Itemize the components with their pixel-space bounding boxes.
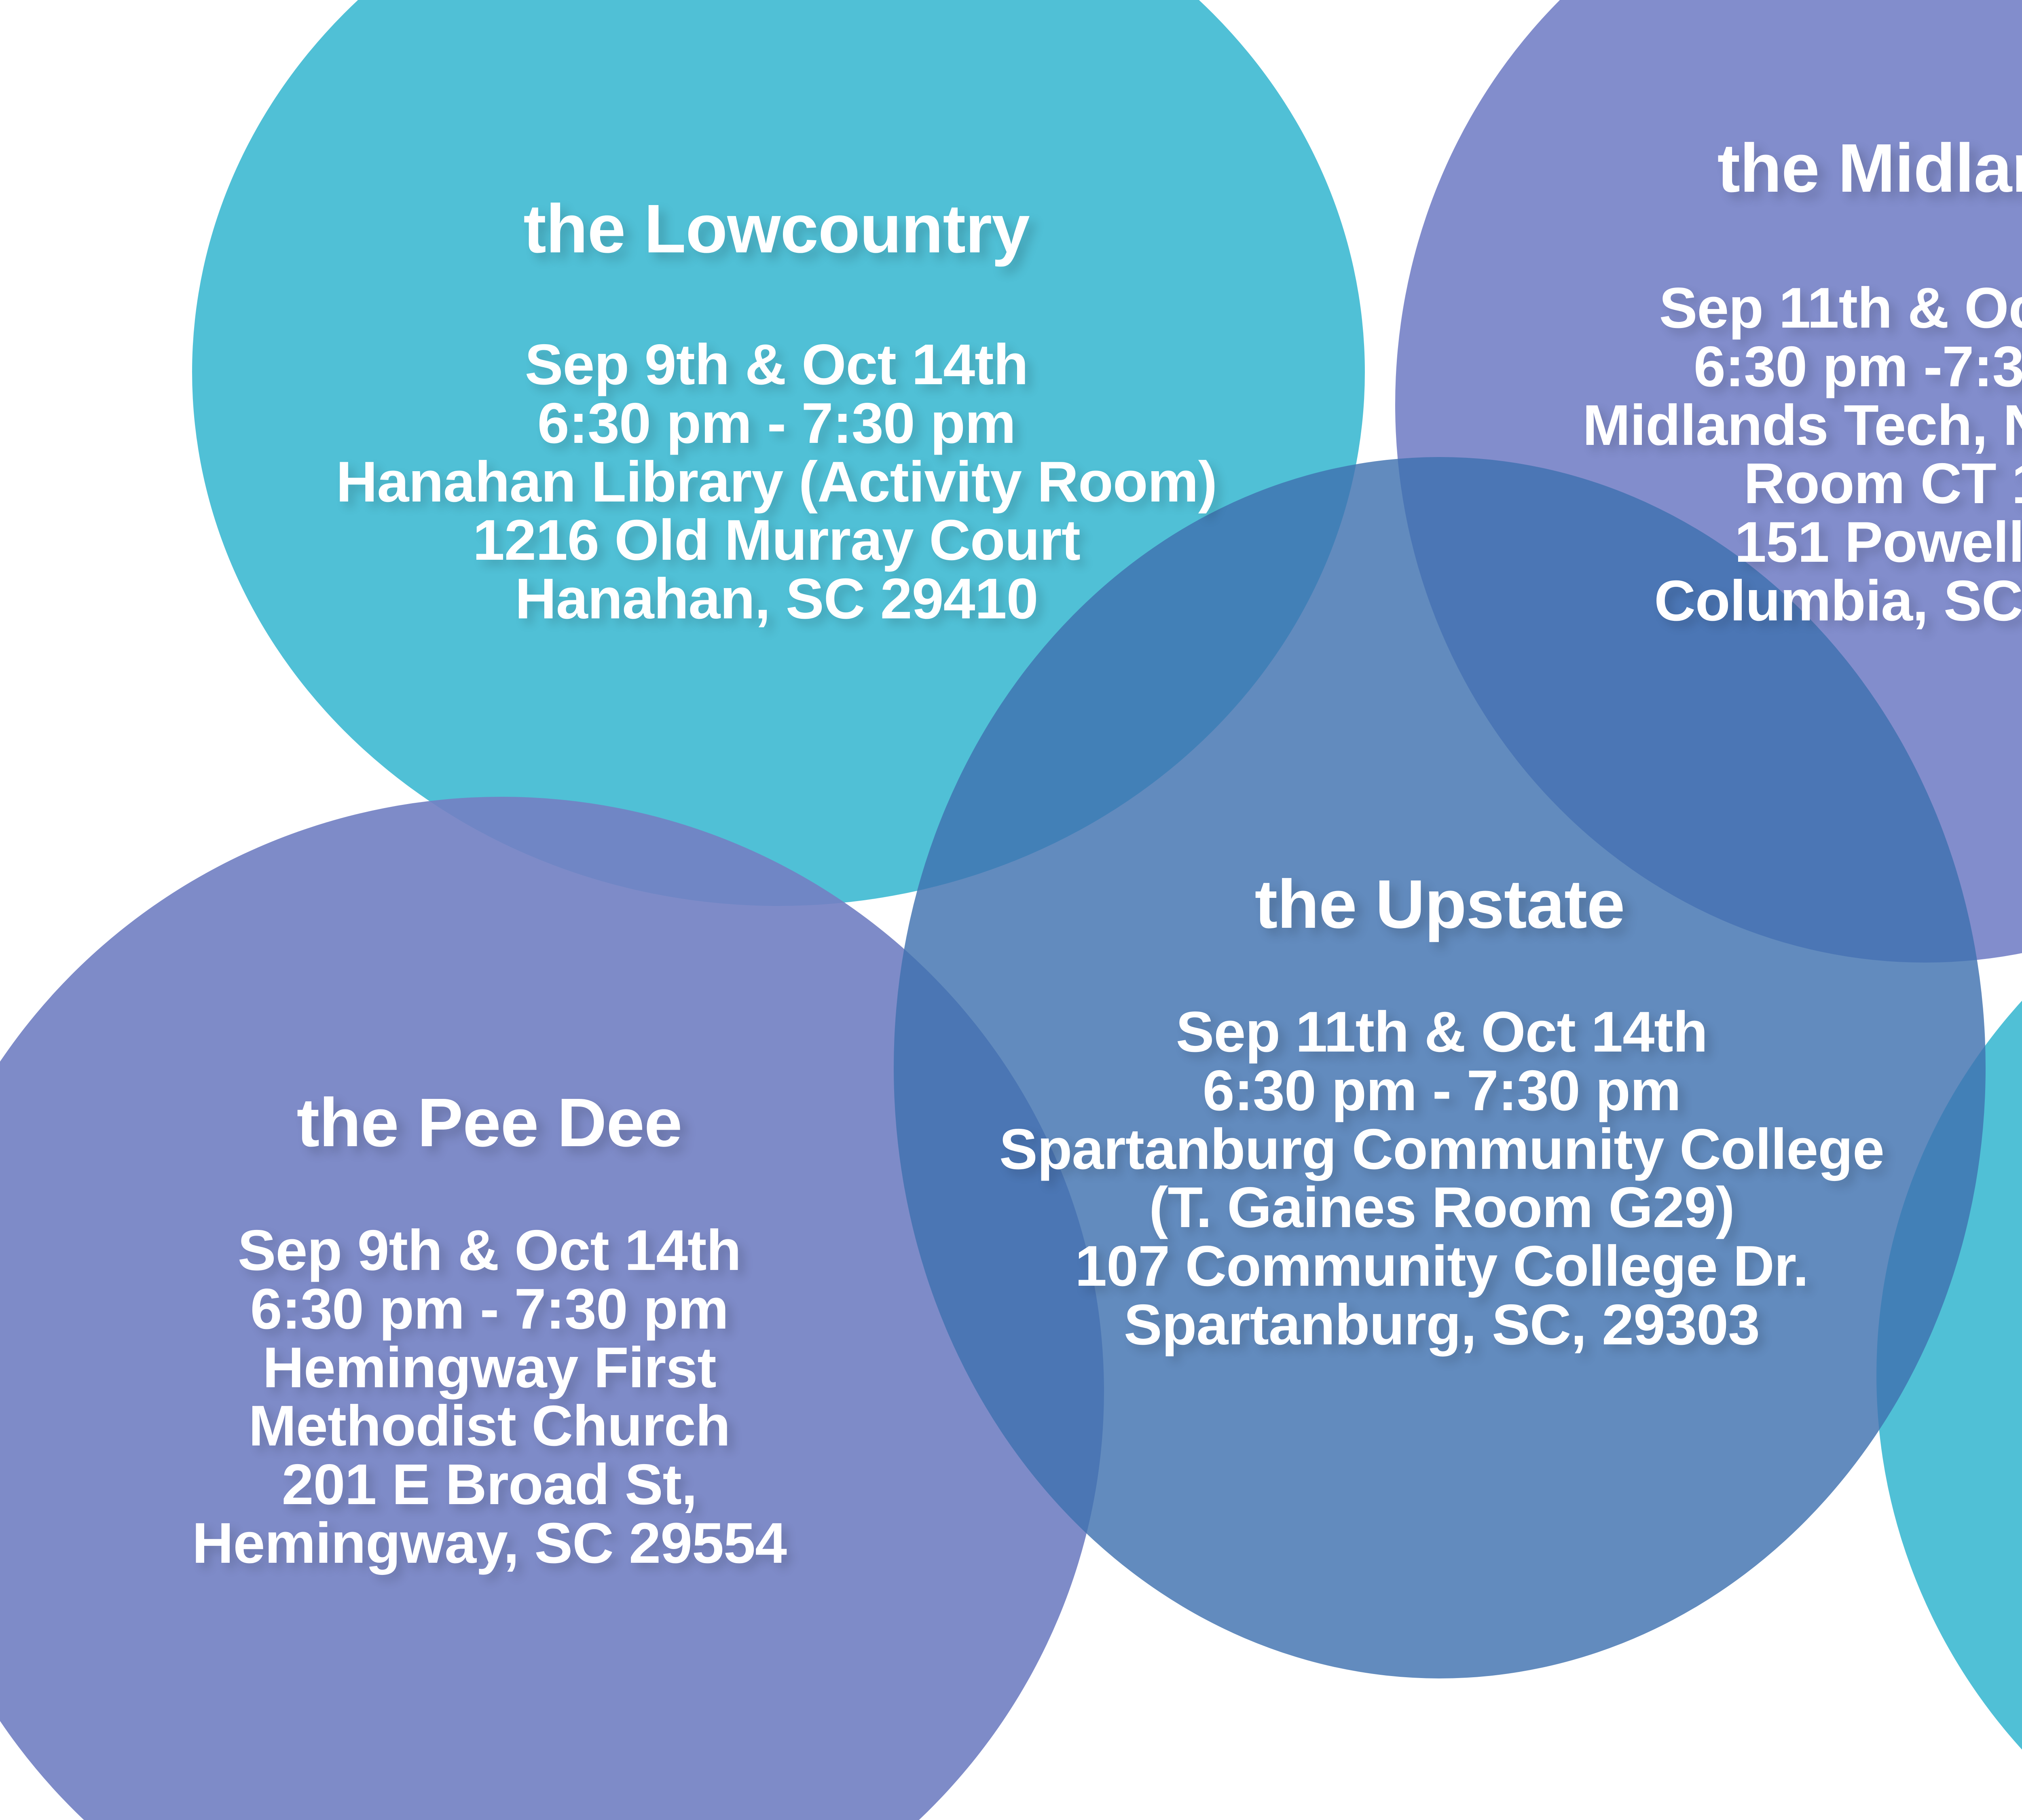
upstate-details: Sep 11th & Oct 14th 6:30 pm - 7:30 pm Sp… (942, 1003, 1941, 1354)
peedee-title: the Pee Dee (93, 1088, 886, 1158)
upstate-title: the Upstate (1035, 870, 1844, 940)
lowcountry-title: the Lowcountry (243, 194, 1310, 264)
midlands-title: the Midlands (1521, 133, 2022, 203)
peedee-details: Sep 9th & Oct 14th 6:30 pm - 7:30 pm Hem… (73, 1221, 906, 1573)
midlands-details: Sep 11th & Oct 16th 6:30 pm -7:30 pm Mid… (1472, 279, 2022, 631)
lowcountry-details: Sep 9th & Oct 14th 6:30 pm - 7:30 pm Han… (210, 336, 1343, 629)
poster-canvas: the Lowcountry Sep 9th & Oct 14th 6:30 p… (0, 0, 2022, 1820)
questions-contact-details: Contact the Lead Family Child Care Coach… (1998, 1290, 2022, 1644)
